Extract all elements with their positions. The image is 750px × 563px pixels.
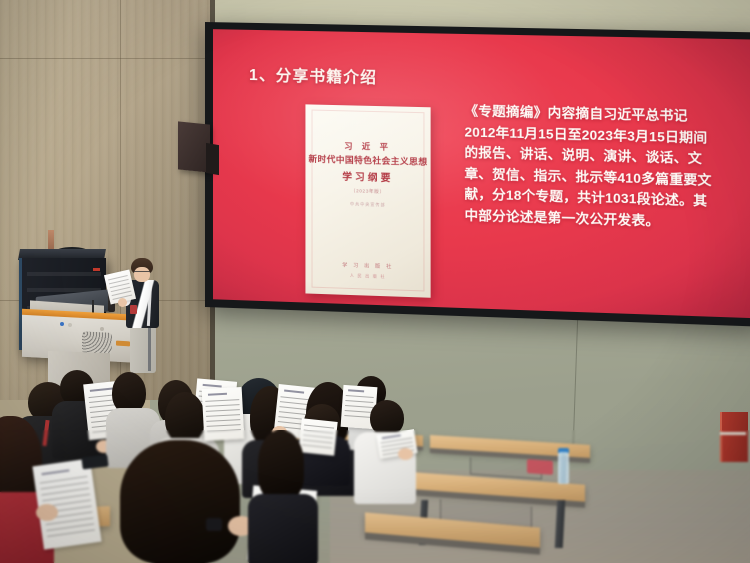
head — [165, 392, 205, 444]
lecture-hall-photo: 1、分享书籍介绍 习 近 平 新时代中国特色社会主义思想 学习纲要 （2023年… — [0, 0, 750, 563]
phone — [81, 454, 108, 469]
rack-led — [93, 268, 100, 271]
sheet-line — [344, 415, 373, 418]
sheet-heading — [284, 390, 304, 394]
sheet-heading — [348, 389, 364, 392]
sheet-heading — [90, 388, 112, 392]
sheet-line — [345, 405, 374, 408]
wood-seam-a — [0, 58, 215, 59]
head — [120, 440, 240, 563]
sheet-line — [345, 400, 374, 403]
speaker-bracket — [206, 143, 219, 175]
torso — [248, 494, 318, 563]
glasses-icon — [134, 271, 150, 276]
sheet-line — [47, 529, 95, 537]
sheet-line — [304, 424, 334, 428]
sheet-line — [302, 439, 332, 443]
sheet-line — [206, 409, 240, 412]
head — [258, 430, 304, 500]
slide-title: 1、分享书籍介绍 — [249, 63, 377, 88]
presenter-legs — [130, 326, 156, 373]
sheet-line — [207, 424, 241, 427]
sheet-line — [207, 429, 241, 432]
presenter-badge — [130, 305, 137, 314]
sheet-line — [303, 434, 333, 438]
wristwatch — [206, 518, 222, 531]
sheet-line — [303, 429, 333, 433]
sheet-line — [206, 414, 240, 417]
sheet-line — [207, 419, 241, 422]
water-bottle — [558, 452, 569, 484]
sheet-line — [302, 444, 332, 448]
sheet-heading — [202, 384, 221, 388]
podium-led — [68, 323, 72, 327]
slide-body-text: 《专题摘编》内容摘自习近平总书记 2012年11月15日至2023年3月15日期… — [465, 101, 749, 235]
sheet-heading — [42, 469, 70, 475]
handout-sheet — [298, 418, 337, 456]
sheet-line — [205, 399, 239, 402]
handout-sheet — [202, 387, 245, 441]
podium-speaker-grille — [82, 331, 112, 355]
hand — [398, 448, 413, 460]
sheet-heading — [208, 393, 227, 396]
book-cover-image: 习 近 平 新时代中国特色社会主义思想 学习纲要 （2023年版） 中共中央宣传… — [305, 104, 430, 297]
sheet-line — [206, 404, 240, 407]
podium-led — [100, 327, 104, 331]
presenter-hand — [118, 298, 127, 307]
sheet-line — [345, 395, 374, 398]
projection-screen: 1、分享书籍介绍 习 近 平 新时代中国特色社会主义思想 学习纲要 （2023年… — [205, 22, 750, 327]
hand — [36, 504, 58, 521]
red-cabinet-divider — [720, 432, 746, 435]
podium-led — [60, 322, 64, 326]
presenter-leg-stripe — [148, 326, 151, 371]
slide-surface: 1、分享书籍介绍 习 近 平 新时代中国特色社会主义思想 学习纲要 （2023年… — [213, 29, 750, 318]
sheet-line — [344, 410, 373, 413]
sheet-heading — [382, 434, 400, 439]
rack-slot — [27, 272, 101, 276]
red-cabinet — [720, 412, 748, 462]
pink-case — [527, 459, 553, 475]
presenter — [118, 258, 166, 373]
